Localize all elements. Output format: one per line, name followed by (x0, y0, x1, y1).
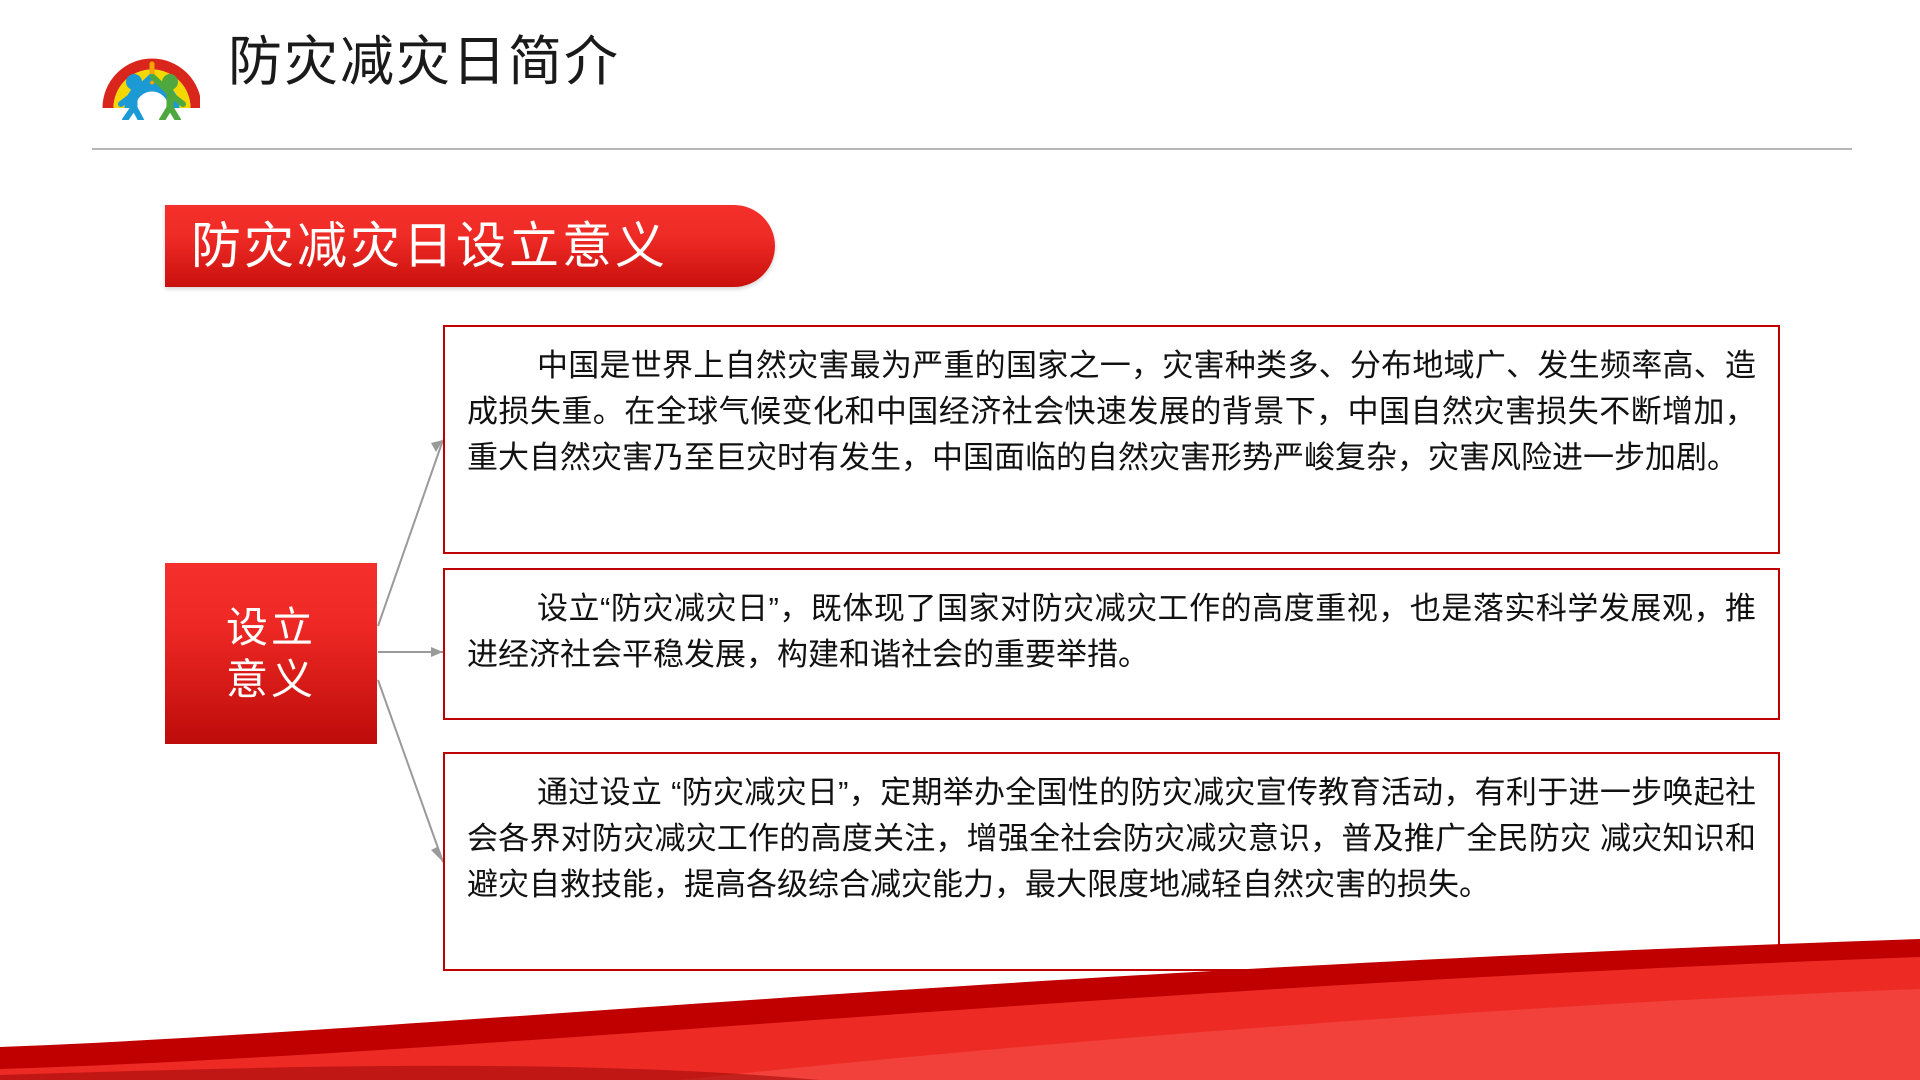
content-box-1: 中国是世界上自然灾害最为严重的国家之一，灾害种类多、分布地域广、发生频率高、造成… (443, 325, 1780, 554)
content-box-3-text: 通过设立 “防灾减灾日”，定期举办全国性的防灾减灾宣传教育活动，有利于进一步唤起… (467, 770, 1756, 908)
content-box-1-text: 中国是世界上自然灾害最为严重的国家之一，灾害种类多、分布地域广、发生频率高、造成… (467, 343, 1756, 481)
content-box-2-text: 设立“防灾减灾日”，既体现了国家对防灾减灾工作的高度重视，也是落实科学发展观，推… (467, 586, 1756, 678)
section-banner: 防灾减灾日设立意义 (165, 205, 775, 287)
left-accent-block: 设立 意义 (165, 563, 377, 744)
header-divider (92, 148, 1852, 150)
left-block-line-1: 设立 (226, 602, 316, 653)
slide: 防灾减灾日简介 防灾减灾日设立意义 设立 意义 中国是世界上自然灾害最为严重的国… (0, 0, 1920, 1080)
left-block-line-2: 意义 (226, 654, 316, 705)
bottom-ribbon-decoration (0, 935, 1920, 1080)
slide-header: 防灾减灾日简介 (0, 0, 1920, 148)
section-banner-label: 防灾减灾日设立意义 (191, 213, 668, 279)
content-box-2: 设立“防灾减灾日”，既体现了国家对防灾减灾工作的高度重视，也是落实科学发展观，推… (443, 568, 1780, 720)
rainbow-two-people-logo-icon (96, 20, 200, 120)
page-title: 防灾减灾日简介 (228, 22, 620, 102)
